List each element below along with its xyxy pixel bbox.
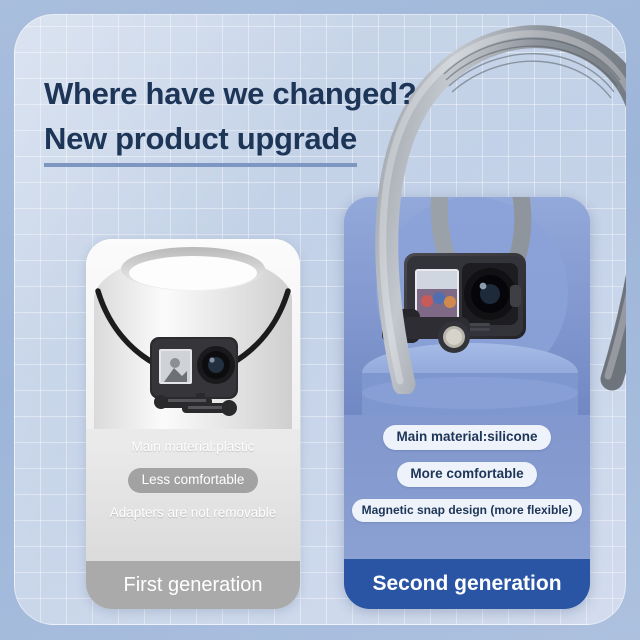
content-panel: Where have we changed? New product upgra…: [14, 14, 626, 625]
page-title: Where have we changed? New product upgra…: [44, 72, 464, 167]
feature-item: Magnetic snap design (more flexible): [352, 499, 583, 522]
feature-item: More comfortable: [397, 462, 536, 487]
headline-line-2: New product upgrade: [44, 117, 357, 167]
headline-line-1: Where have we changed?: [44, 72, 464, 117]
comparison-card-first-generation: Main material:plastic Less comfortable A…: [86, 239, 300, 609]
product-photo-first-generation: [86, 239, 300, 429]
generation-label-first: First generation: [86, 561, 300, 609]
silicone-neck-band-illustration: [344, 14, 626, 394]
feature-item: Main material:plastic: [131, 439, 254, 456]
feature-list-second-generation: Main material:silicone More comfortable …: [344, 425, 590, 522]
feature-list-first-generation: Main material:plastic Less comfortable A…: [86, 439, 300, 522]
poster-background: Where have we changed? New product upgra…: [0, 0, 640, 640]
feature-item: Less comfortable: [128, 468, 259, 493]
feature-item: Main material:silicone: [383, 425, 550, 450]
generation-label-second: Second generation: [344, 559, 590, 609]
feature-item: Adapters are not removable: [110, 505, 277, 522]
